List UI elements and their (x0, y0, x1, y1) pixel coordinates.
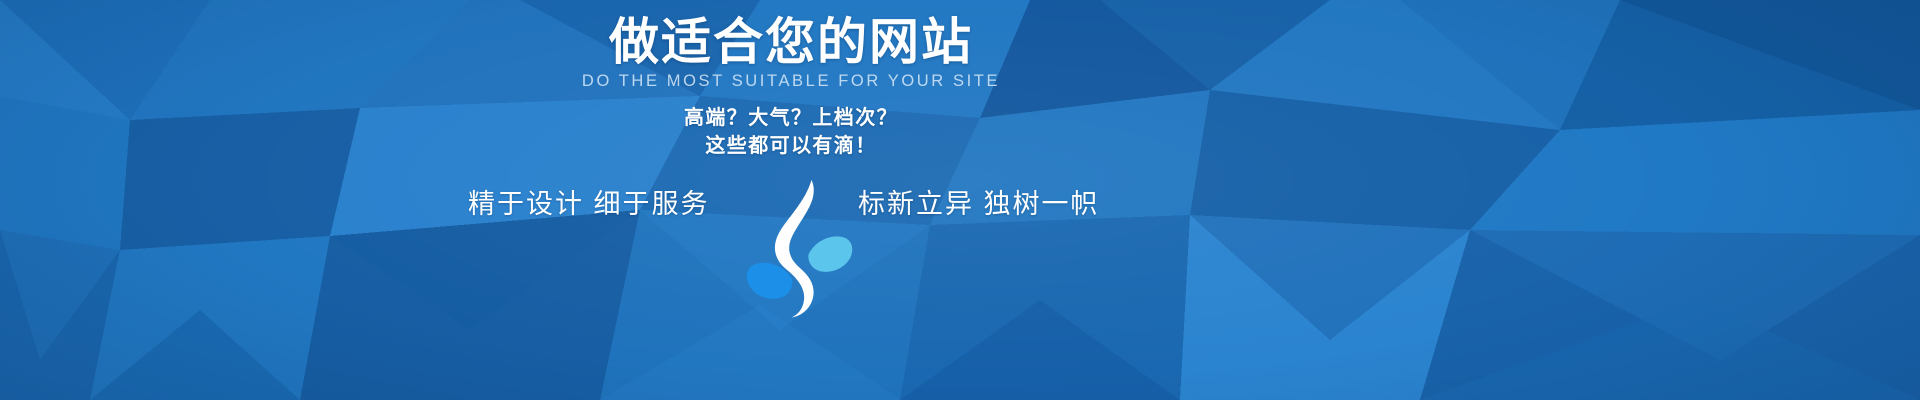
tagline-block: 高端？大气？上档次？ 这些都可以有滴！ (0, 104, 1582, 161)
promo-banner: 做适合您的网站 DO THE MOST SUITABLE FOR YOUR SI… (0, 0, 1920, 400)
page-subtitle: DO THE MOST SUITABLE FOR YOUR SITE (0, 72, 1582, 92)
slogan-left: 精于设计 细于服务 (468, 188, 710, 222)
slogan-row: 精于设计 细于服务 标新立异 独树一帜 (0, 178, 1582, 398)
tagline-line-1: 高端？大气？上档次？ (0, 104, 1582, 132)
tagline-line-2: 这些都可以有滴！ (0, 132, 1582, 160)
headline-block: 做适合您的网站 DO THE MOST SUITABLE FOR YOUR SI… (0, 14, 1582, 92)
slogan-right: 标新立异 独树一帜 (858, 188, 1100, 222)
page-title: 做适合您的网站 (0, 14, 1582, 70)
leaf-swirl-logo-icon (735, 178, 855, 318)
